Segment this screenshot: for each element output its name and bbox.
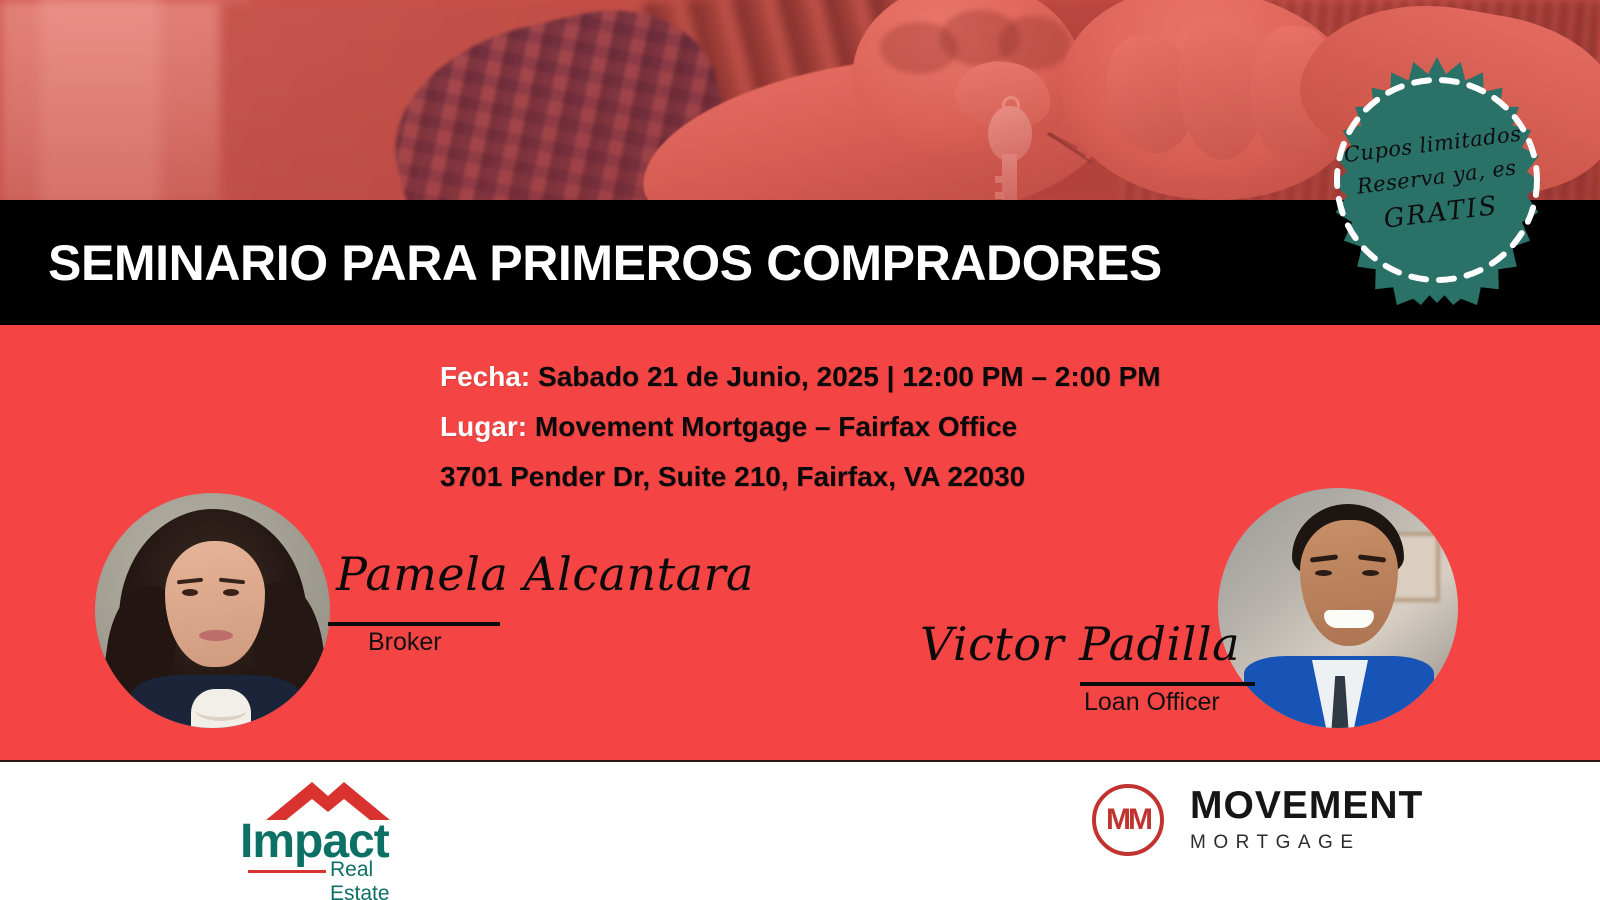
detail-row-lugar: Lugar: Movement Mortgage – Fairfax Offic… — [440, 413, 1161, 441]
event-details-list: Fecha: Sabado 21 de Junio, 2025 | 12:00 … — [440, 363, 1161, 513]
necklace — [195, 699, 247, 721]
eye — [1362, 570, 1379, 576]
impact-real-estate-logo: Impact Real Estate — [240, 780, 420, 888]
mortgage-subtitle: MORTGAGE — [1190, 832, 1423, 854]
promo-badge: Cupos limitados Reserva ya, es GRATIS — [1312, 55, 1562, 305]
impact-subtitle: Real Estate — [330, 858, 420, 900]
presenter-divider — [328, 622, 500, 626]
movement-wordmark: MOVEMENT — [1190, 786, 1423, 825]
detail-row-fecha: Fecha: Sabado 21 de Junio, 2025 | 12:00 … — [440, 363, 1161, 391]
footer-logo-bar: Impact Real Estate MM MOVEMENT MORTGAGE — [0, 760, 1600, 900]
badge-text: Cupos limitados Reserva ya, es GRATIS — [1298, 41, 1577, 320]
mm-monogram-letters: MM — [1106, 803, 1150, 837]
detail-value-lugar: Movement Mortgage – Fairfax Office — [535, 411, 1017, 442]
presenter-name: Pamela Alcantara — [336, 547, 754, 601]
eye — [1315, 570, 1332, 576]
presenter-divider — [1080, 682, 1255, 686]
presenter-role: Loan Officer — [1084, 688, 1220, 717]
flyer-canvas: SEMINARIO PARA PRIMEROS COMPRADORES Cupo… — [0, 0, 1600, 900]
presenter-role: Broker — [368, 628, 442, 657]
impact-rule — [248, 870, 326, 873]
mouth — [199, 630, 233, 641]
avatar — [95, 493, 330, 728]
detail-value-fecha: Sabado 21 de Junio, 2025 | 12:00 PM – 2:… — [538, 361, 1161, 392]
smile — [1324, 610, 1374, 628]
page-title: SEMINARIO PARA PRIMEROS COMPRADORES — [48, 234, 1162, 292]
detail-label-lugar: Lugar: — [440, 411, 527, 442]
detail-label-fecha: Fecha: — [440, 361, 530, 392]
detail-value-address: 3701 Pender Dr, Suite 210, Fairfax, VA 2… — [440, 461, 1025, 492]
event-details-section: Fecha: Sabado 21 de Junio, 2025 | 12:00 … — [0, 325, 1600, 760]
eye — [223, 589, 239, 596]
mm-monogram-icon: MM — [1092, 784, 1164, 856]
avatar — [1218, 488, 1458, 728]
presenter-name: Victor Padilla — [920, 617, 1240, 671]
eye — [182, 589, 198, 596]
movement-wordmark-block: MOVEMENT MORTGAGE — [1190, 786, 1423, 854]
badge-line-3: GRATIS — [1382, 193, 1499, 233]
movement-mortgage-logo: MM MOVEMENT MORTGAGE — [1092, 784, 1423, 856]
detail-row-address: 3701 Pender Dr, Suite 210, Fairfax, VA 2… — [440, 463, 1161, 491]
